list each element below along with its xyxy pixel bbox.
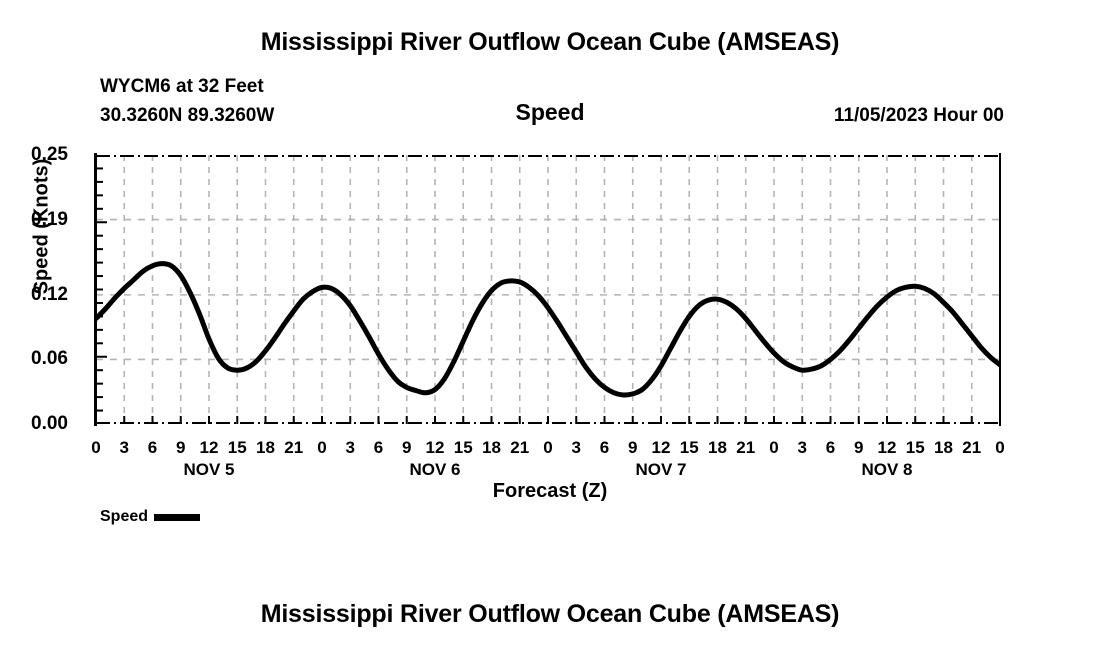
x-axis-day-label: NOV 5 xyxy=(139,460,279,480)
chart-figure: Mississippi River Outflow Ocean Cube (AM… xyxy=(0,0,1100,650)
y-tick-label: 0.25 xyxy=(0,145,68,164)
model-run-time: 11/05/2023 Hour 00 xyxy=(834,105,1004,127)
x-tick-label: 0 xyxy=(980,438,1020,458)
x-axis-day-label: NOV 6 xyxy=(365,460,505,480)
y-tick-label: 0.00 xyxy=(0,414,68,433)
legend: Speed xyxy=(100,508,200,526)
x-axis-title: Forecast (Z) xyxy=(0,480,1100,503)
x-axis-day-label: NOV 8 xyxy=(817,460,957,480)
y-tick-label: 0.19 xyxy=(0,210,68,229)
plot-area xyxy=(96,155,1000,424)
page-title: Mississippi River Outflow Ocean Cube (AM… xyxy=(0,28,1100,57)
legend-label-speed: Speed xyxy=(100,508,148,526)
x-axis-day-label: NOV 7 xyxy=(591,460,731,480)
legend-swatch-speed xyxy=(154,514,200,521)
y-axis-line xyxy=(94,153,97,426)
y-tick-label: 0.06 xyxy=(0,349,68,368)
station-label: WYCM6 at 32 Feet xyxy=(100,76,264,98)
y-tick-label: 0.12 xyxy=(0,285,68,304)
footer-title: Mississippi River Outflow Ocean Cube (AM… xyxy=(0,600,1100,629)
speed-line-chart xyxy=(96,155,1000,424)
right-axis-line xyxy=(999,153,1001,426)
